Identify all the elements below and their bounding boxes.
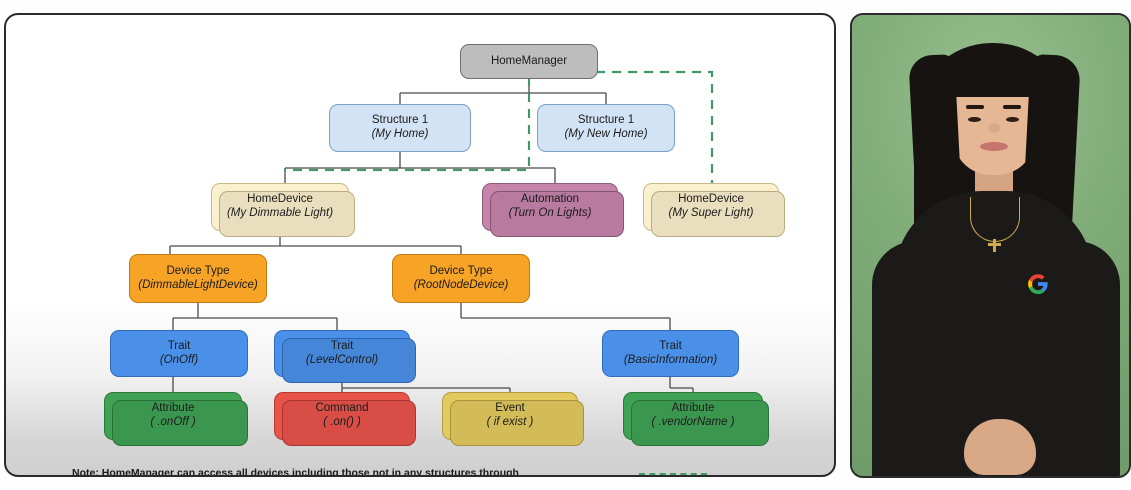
node-line2: (My Super Light) [668, 207, 753, 221]
node-line2: (My New Home) [564, 128, 647, 142]
node-attribute-onoff[interactable]: Attribute ( .onOff ) [104, 392, 242, 440]
node-automation[interactable]: Automation (Turn On Lights) [482, 183, 618, 231]
eye-left-icon [968, 117, 981, 122]
node-line2: ( .vendorName ) [651, 416, 734, 430]
legend-dashed-line [639, 473, 707, 475]
node-homedevice-my-super-light[interactable]: HomeDevice (My Super Light) [643, 183, 779, 231]
diagram-panel: HomeManager Structure 1 (My Home) Struct… [4, 13, 836, 477]
node-trait-onoff[interactable]: Trait (OnOff) [110, 330, 248, 377]
eye-right-icon [1006, 117, 1019, 122]
node-line1: Structure 1 [578, 114, 634, 128]
presenter-mouth [980, 142, 1008, 151]
node-line1: HomeDevice [678, 193, 744, 207]
node-line2: (LevelControl) [306, 354, 378, 368]
node-line1: Attribute [672, 402, 715, 416]
google-g-icon [1027, 273, 1049, 295]
presenter-video-panel[interactable] [850, 13, 1131, 478]
node-line1: Automation [521, 193, 579, 207]
node-line2: ( .onOff ) [150, 416, 195, 430]
node-trait-basicinformation[interactable]: Trait (BasicInformation) [602, 330, 739, 377]
node-devicetype-dimmablelightdevice[interactable]: Device Type (DimmableLightDevice) [129, 254, 267, 303]
node-line1: Trait [168, 340, 191, 354]
node-line1: Device Type [429, 265, 492, 279]
node-structure-my-new-home[interactable]: Structure 1 (My New Home) [537, 104, 675, 152]
eyebrow-left-icon [966, 105, 984, 109]
node-trait-levelcontrol[interactable]: Trait (LevelControl) [274, 330, 410, 377]
node-line2: (BasicInformation) [624, 354, 717, 368]
node-line1: Trait [659, 340, 682, 354]
presenter-hands [964, 419, 1036, 475]
node-line2: ( .on() ) [323, 416, 361, 430]
node-homemanager[interactable]: HomeManager [460, 44, 598, 79]
node-command-on[interactable]: Command ( .on() ) [274, 392, 410, 440]
node-homedevice-my-dimmable-light[interactable]: HomeDevice (My Dimmable Light) [211, 183, 349, 231]
node-line1: Device Type [166, 265, 229, 279]
cross-pendant-icon-bar [988, 243, 1001, 246]
node-line1: Trait [331, 340, 354, 354]
node-attribute-vendorname[interactable]: Attribute ( .vendorName ) [623, 392, 763, 440]
node-event-if-exist[interactable]: Event ( if exist ) [442, 392, 578, 440]
diagram-note: Note: HomeManager can access all devices… [72, 467, 519, 477]
node-line1: HomeManager [491, 55, 567, 69]
node-line2: (RootNodeDevice) [414, 279, 509, 293]
node-structure-my-home[interactable]: Structure 1 (My Home) [329, 104, 471, 152]
node-devicetype-rootnodedevice[interactable]: Device Type (RootNodeDevice) [392, 254, 530, 303]
node-line2: (OnOff) [160, 354, 198, 368]
node-line1: Structure 1 [372, 114, 428, 128]
node-line1: Event [495, 402, 524, 416]
node-line1: Attribute [152, 402, 195, 416]
node-line2: (DimmableLightDevice) [138, 279, 258, 293]
node-line2: (Turn On Lights) [509, 207, 592, 221]
eyebrow-right-icon [1003, 105, 1021, 109]
node-line1: HomeDevice [247, 193, 313, 207]
node-line2: ( if exist ) [487, 416, 534, 430]
node-line1: Command [315, 402, 368, 416]
presenter-nose [988, 123, 1000, 133]
node-line2: (My Dimmable Light) [227, 207, 333, 221]
node-line2: (My Home) [372, 128, 429, 142]
